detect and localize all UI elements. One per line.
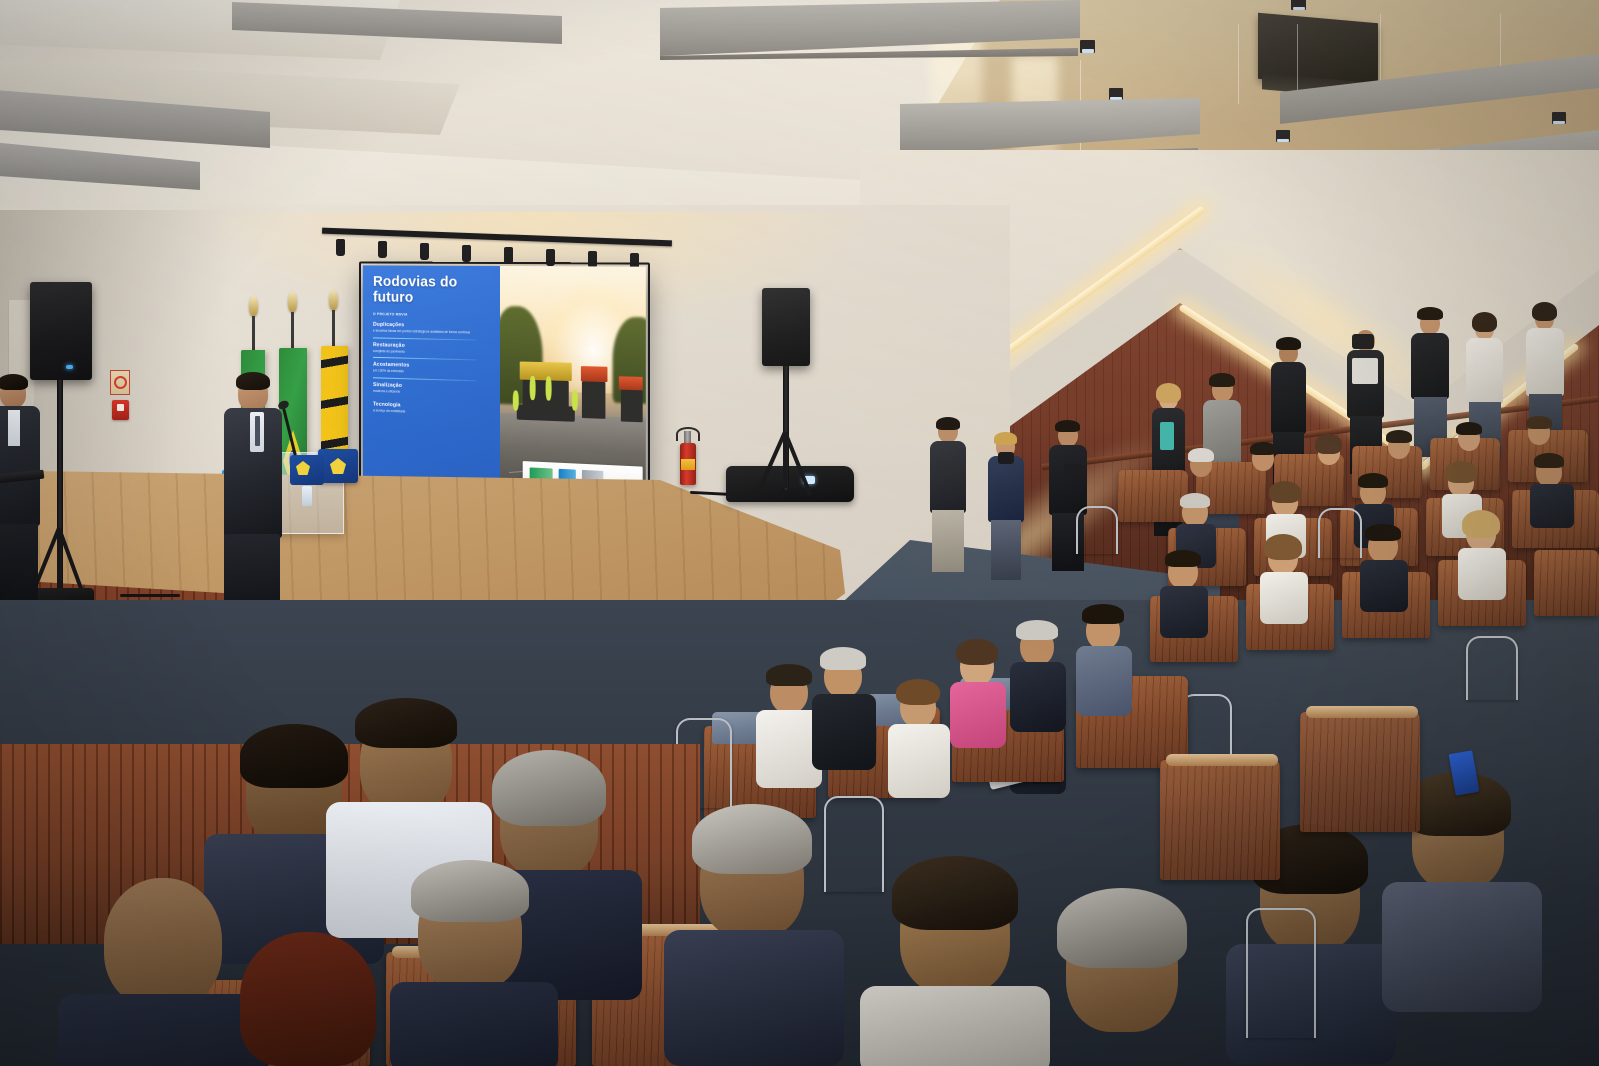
torso (1076, 646, 1132, 716)
hair (1358, 473, 1388, 488)
hair (1016, 620, 1058, 640)
torso (1360, 560, 1408, 612)
torso (1160, 586, 1208, 638)
hair (892, 856, 1018, 930)
aisle-handrail[interactable] (1076, 506, 1118, 554)
aisle-handrail[interactable] (1318, 508, 1362, 558)
speaker-hair (236, 372, 270, 390)
hair (1180, 493, 1210, 508)
hair (1209, 373, 1235, 387)
seat[interactable] (1118, 470, 1188, 522)
hair-long (240, 932, 376, 1066)
torso (1010, 662, 1066, 732)
hair (1472, 312, 1497, 332)
hair (1057, 888, 1187, 968)
torso (950, 682, 1006, 748)
downlight (1552, 112, 1566, 124)
pa-speaker-right (762, 288, 810, 366)
torso (664, 930, 844, 1066)
hair (355, 698, 457, 748)
vest (1352, 358, 1378, 384)
seat-rim (1166, 754, 1278, 766)
hair (411, 860, 529, 922)
hair (1365, 524, 1401, 541)
legs (991, 520, 1021, 580)
track-spotlight-icon (462, 245, 471, 262)
hair (820, 647, 866, 670)
hair (1532, 302, 1557, 321)
camera-icon (998, 452, 1014, 464)
hair (1417, 307, 1443, 320)
flag-finial (249, 296, 258, 316)
hair (1456, 422, 1482, 435)
aisle-handrail[interactable] (824, 796, 884, 892)
seat[interactable] (1300, 712, 1420, 832)
fire-extinguisher-label (681, 459, 695, 470)
camera-icon (1064, 464, 1082, 477)
torso (58, 994, 268, 1066)
pa-speaker-left (30, 282, 92, 380)
hair (956, 639, 998, 665)
legs (932, 510, 964, 572)
hair (1250, 442, 1276, 455)
fire-extinguisher (680, 443, 696, 485)
seat-rim (1306, 706, 1418, 718)
hair (1165, 550, 1201, 567)
torso (1530, 484, 1574, 528)
hair (1156, 383, 1181, 403)
baffle-wire (1238, 24, 1239, 104)
cap-icon (1055, 420, 1080, 432)
hair (1082, 604, 1124, 624)
speaker-tie (255, 416, 260, 446)
torso (1411, 333, 1449, 399)
torso (860, 986, 1050, 1066)
head-bald (104, 878, 222, 1008)
pa-speaker-led (66, 365, 73, 369)
baffle-wire (1380, 14, 1381, 84)
torso (812, 694, 876, 770)
hair (1462, 510, 1500, 538)
aisle-handrail[interactable] (1246, 908, 1316, 1038)
podium-crest (318, 449, 358, 483)
hair (1386, 430, 1412, 443)
flag-finial (329, 290, 338, 310)
torso (888, 724, 950, 798)
track-spotlight-icon (420, 243, 429, 260)
flag-finial (288, 292, 297, 312)
torso (390, 982, 558, 1066)
torso (1260, 572, 1308, 624)
hair (1315, 434, 1342, 454)
torso (1271, 362, 1306, 434)
hair (1445, 461, 1477, 483)
aide-hair (0, 374, 28, 390)
blouse-detail (1160, 422, 1174, 450)
hair (936, 417, 960, 430)
seat[interactable] (1160, 760, 1280, 880)
seat[interactable] (1534, 550, 1599, 616)
camera-icon (1352, 334, 1374, 349)
hair (1264, 534, 1302, 560)
downlight (1080, 40, 1095, 53)
torso (988, 456, 1024, 522)
equipment-bag (726, 466, 854, 502)
hair (1276, 337, 1301, 350)
aisle-handrail[interactable] (1466, 636, 1518, 700)
aide-shirt (8, 410, 20, 446)
blouse (1526, 328, 1564, 396)
torso (930, 441, 966, 513)
downlight (1276, 130, 1290, 142)
hair (1534, 453, 1564, 468)
water-glass (302, 486, 312, 506)
torso (1049, 445, 1087, 515)
hair (240, 724, 348, 788)
auditorium-photo: Rodovias do futuro O PROJETO MSVIA Dupli… (0, 0, 1599, 1066)
aide-suit (0, 406, 40, 526)
fire-alarm-pull-station[interactable] (112, 400, 129, 420)
fire-alarm-sign-icon (110, 370, 130, 395)
hair (1269, 481, 1301, 503)
downlight (1291, 0, 1306, 10)
torso (1382, 882, 1542, 1012)
hair (994, 432, 1017, 445)
floor-cable (120, 594, 180, 597)
screen-bezel (359, 261, 650, 500)
torso (1458, 548, 1506, 600)
hair (492, 750, 606, 826)
hair (1526, 416, 1552, 429)
tripod-leg (783, 432, 787, 488)
downlight (1109, 88, 1123, 100)
hair (692, 804, 812, 874)
hair (766, 664, 812, 686)
hair (1188, 448, 1214, 462)
hair (896, 679, 940, 705)
track-spotlight-icon (336, 239, 345, 256)
blouse (1466, 338, 1503, 404)
baffle-wire (1500, 14, 1501, 74)
track-spotlight-icon (378, 241, 387, 258)
